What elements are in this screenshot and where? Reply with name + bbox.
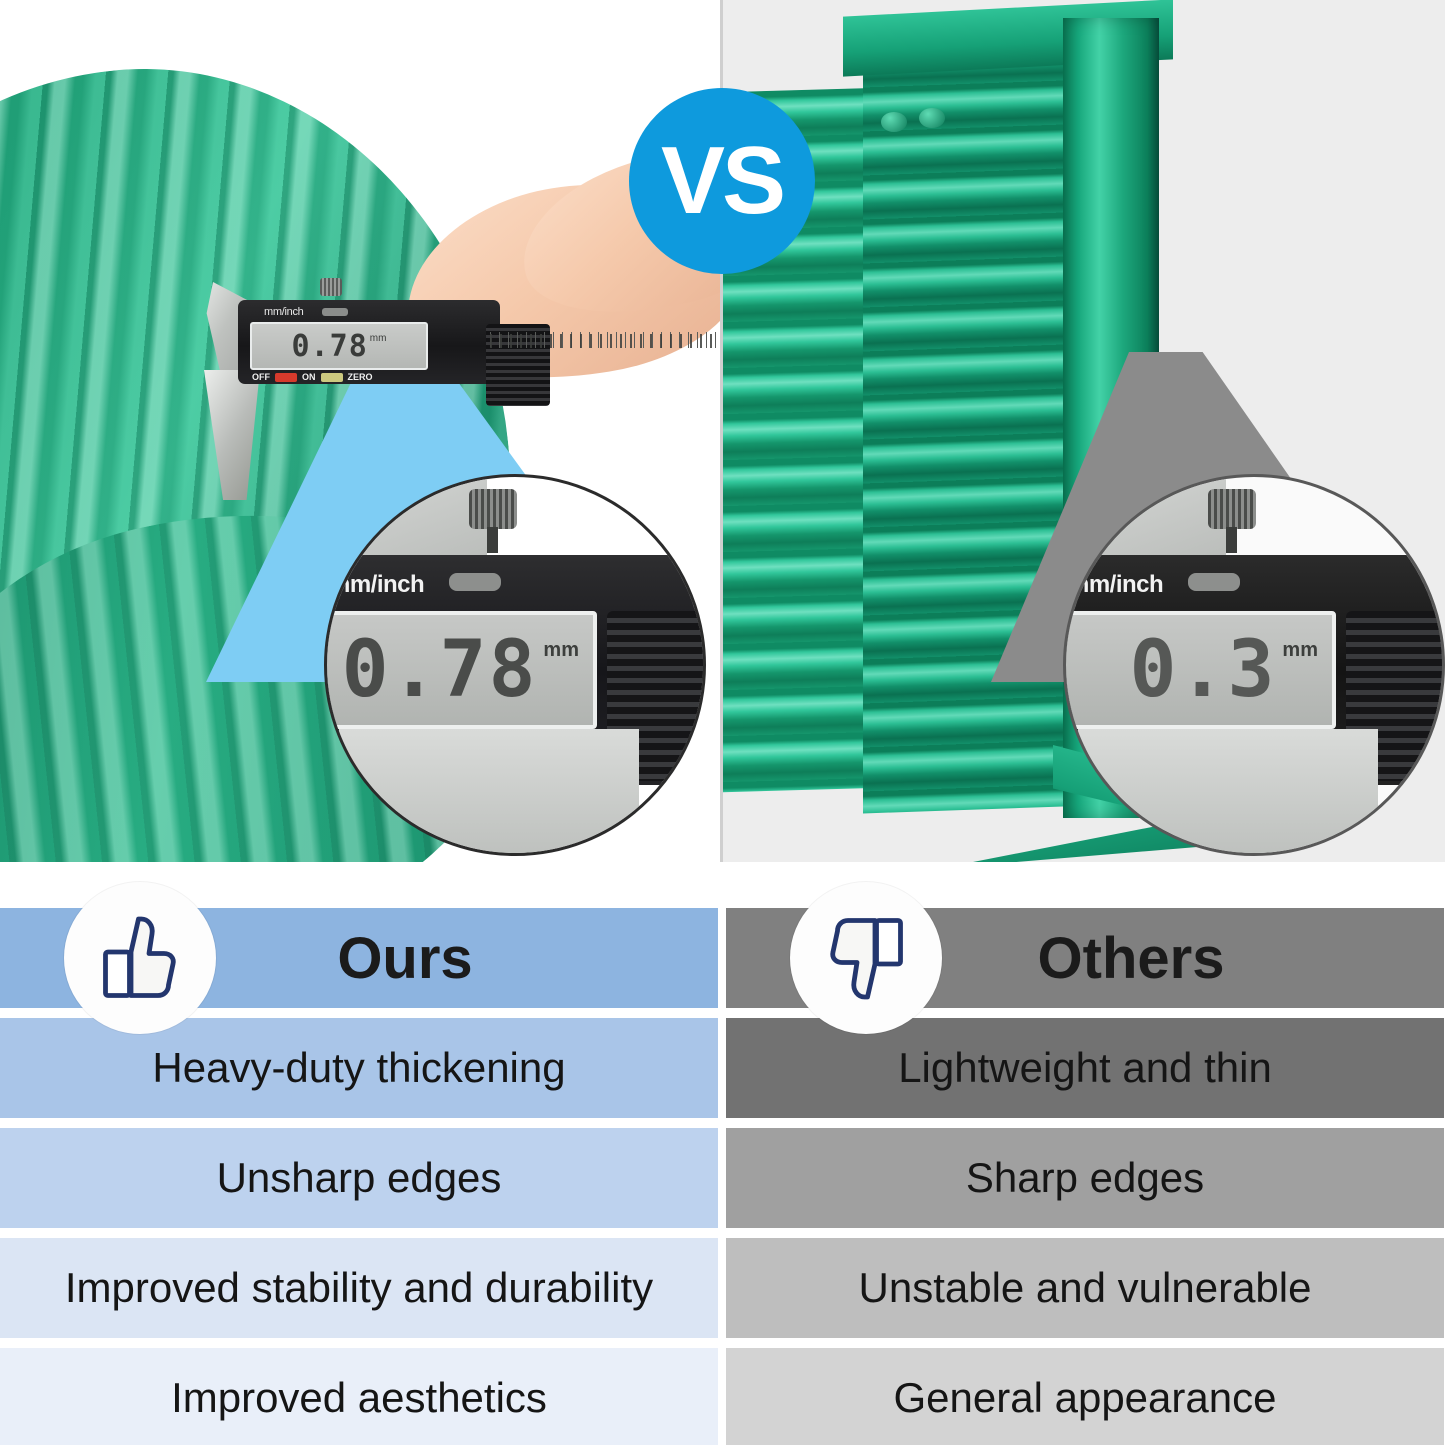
caliper-zero-switch [321,373,343,382]
caliper-reading: 0.78 [292,329,368,364]
row-label: Lightweight and thin [884,1044,1286,1092]
table-row: Unstable and vulnerable [726,1238,1444,1338]
caliper-unit-magnified: mm [543,639,579,662]
vs-label: VS [661,133,783,229]
metal-plate-lower [1078,729,1378,856]
caliper-mode-label: mm/inch [264,306,303,318]
corrugated-panel-secondary [863,37,1063,814]
magnified-content: mm/inch 0.78 mm OFF ON ZERO [327,477,703,853]
others-product-photo: mm/inch 0.3 mm OFF ON ZERO [723,0,1445,862]
caliper-unit-magnified: mm [1282,639,1318,662]
row-label: Improved aesthetics [157,1374,561,1422]
table-row: Sharp edges [726,1128,1444,1228]
table-row: Lightweight and thin [726,1018,1444,1118]
caliper-off-label: OFF [252,372,270,382]
table-row: Improved stability and durability [0,1238,718,1338]
caliper-mode-button-magnified [449,573,501,591]
caliper-mode-button-magnified [1188,573,1240,591]
caliper-zero-label: ZERO [348,372,373,382]
magnified-caliper-view: mm/inch 0.3 mm OFF ON ZERO [1063,474,1445,856]
caliper-reading-magnified: 0.78 [342,631,538,709]
vs-badge: VS [629,88,815,274]
table-row: Heavy-duty thickening [0,1018,718,1118]
photo-comparison-area: mm/inch 0.78 mm OFF ON ZERO [0,0,1445,862]
caliper-thumbwheel-magnified [1208,489,1256,529]
caliper-unit: mm [370,333,387,344]
caliper-mode-label-magnified: mm/inch [1068,571,1163,599]
magnified-content: mm/inch 0.3 mm OFF ON ZERO [1066,477,1442,853]
thumbs-down-icon [790,882,942,1034]
caliper-mode-label-magnified: mm/inch [329,571,424,599]
caliper-on-label: ON [302,372,316,382]
row-label: Heavy-duty thickening [138,1044,579,1092]
table-row: General appearance [726,1348,1444,1445]
table-row: Improved aesthetics [0,1348,718,1445]
bolt-icon [919,108,945,128]
caliper-body: mm/inch 0.78 mm OFF ON ZERO [238,300,500,384]
row-label: Unstable and vulnerable [845,1264,1326,1312]
magnified-caliper-view: mm/inch 0.78 mm OFF ON ZERO [324,474,706,856]
comparison-infographic: mm/inch 0.78 mm OFF ON ZERO [0,0,1445,1445]
comparison-table: Ours Heavy-duty thickening Unsharp edges… [0,862,1445,1445]
caliper-lcd-magnified: 0.3 mm [1063,611,1336,729]
table-row: Unsharp edges [0,1128,718,1228]
caliper-thumbwheel-magnified [469,489,517,529]
row-label: Unsharp edges [203,1154,516,1202]
row-label: Sharp edges [952,1154,1218,1202]
comparison-column-others: Others Lightweight and thin Sharp edges … [726,862,1444,1445]
thumbs-up-icon [64,882,216,1034]
caliper-lcd: 0.78 mm [250,322,428,370]
row-label: Improved stability and durability [51,1264,667,1312]
row-label: General appearance [880,1374,1291,1422]
metal-plate-lower [339,729,639,856]
bolt-icon [881,112,907,132]
ours-product-photo: mm/inch 0.78 mm OFF ON ZERO [0,0,722,862]
caliper-thumbwheel [320,278,342,296]
caliper-power-switch [275,373,297,382]
caliper-scale-bar [490,304,722,348]
caliper-mode-button [322,308,348,316]
caliper-button-row: OFF ON ZERO [252,372,373,382]
caliper-lcd-magnified: 0.78 mm [324,611,597,729]
comparison-column-ours: Ours Heavy-duty thickening Unsharp edges… [0,862,718,1445]
caliper-reading-magnified: 0.3 [1130,631,1277,709]
